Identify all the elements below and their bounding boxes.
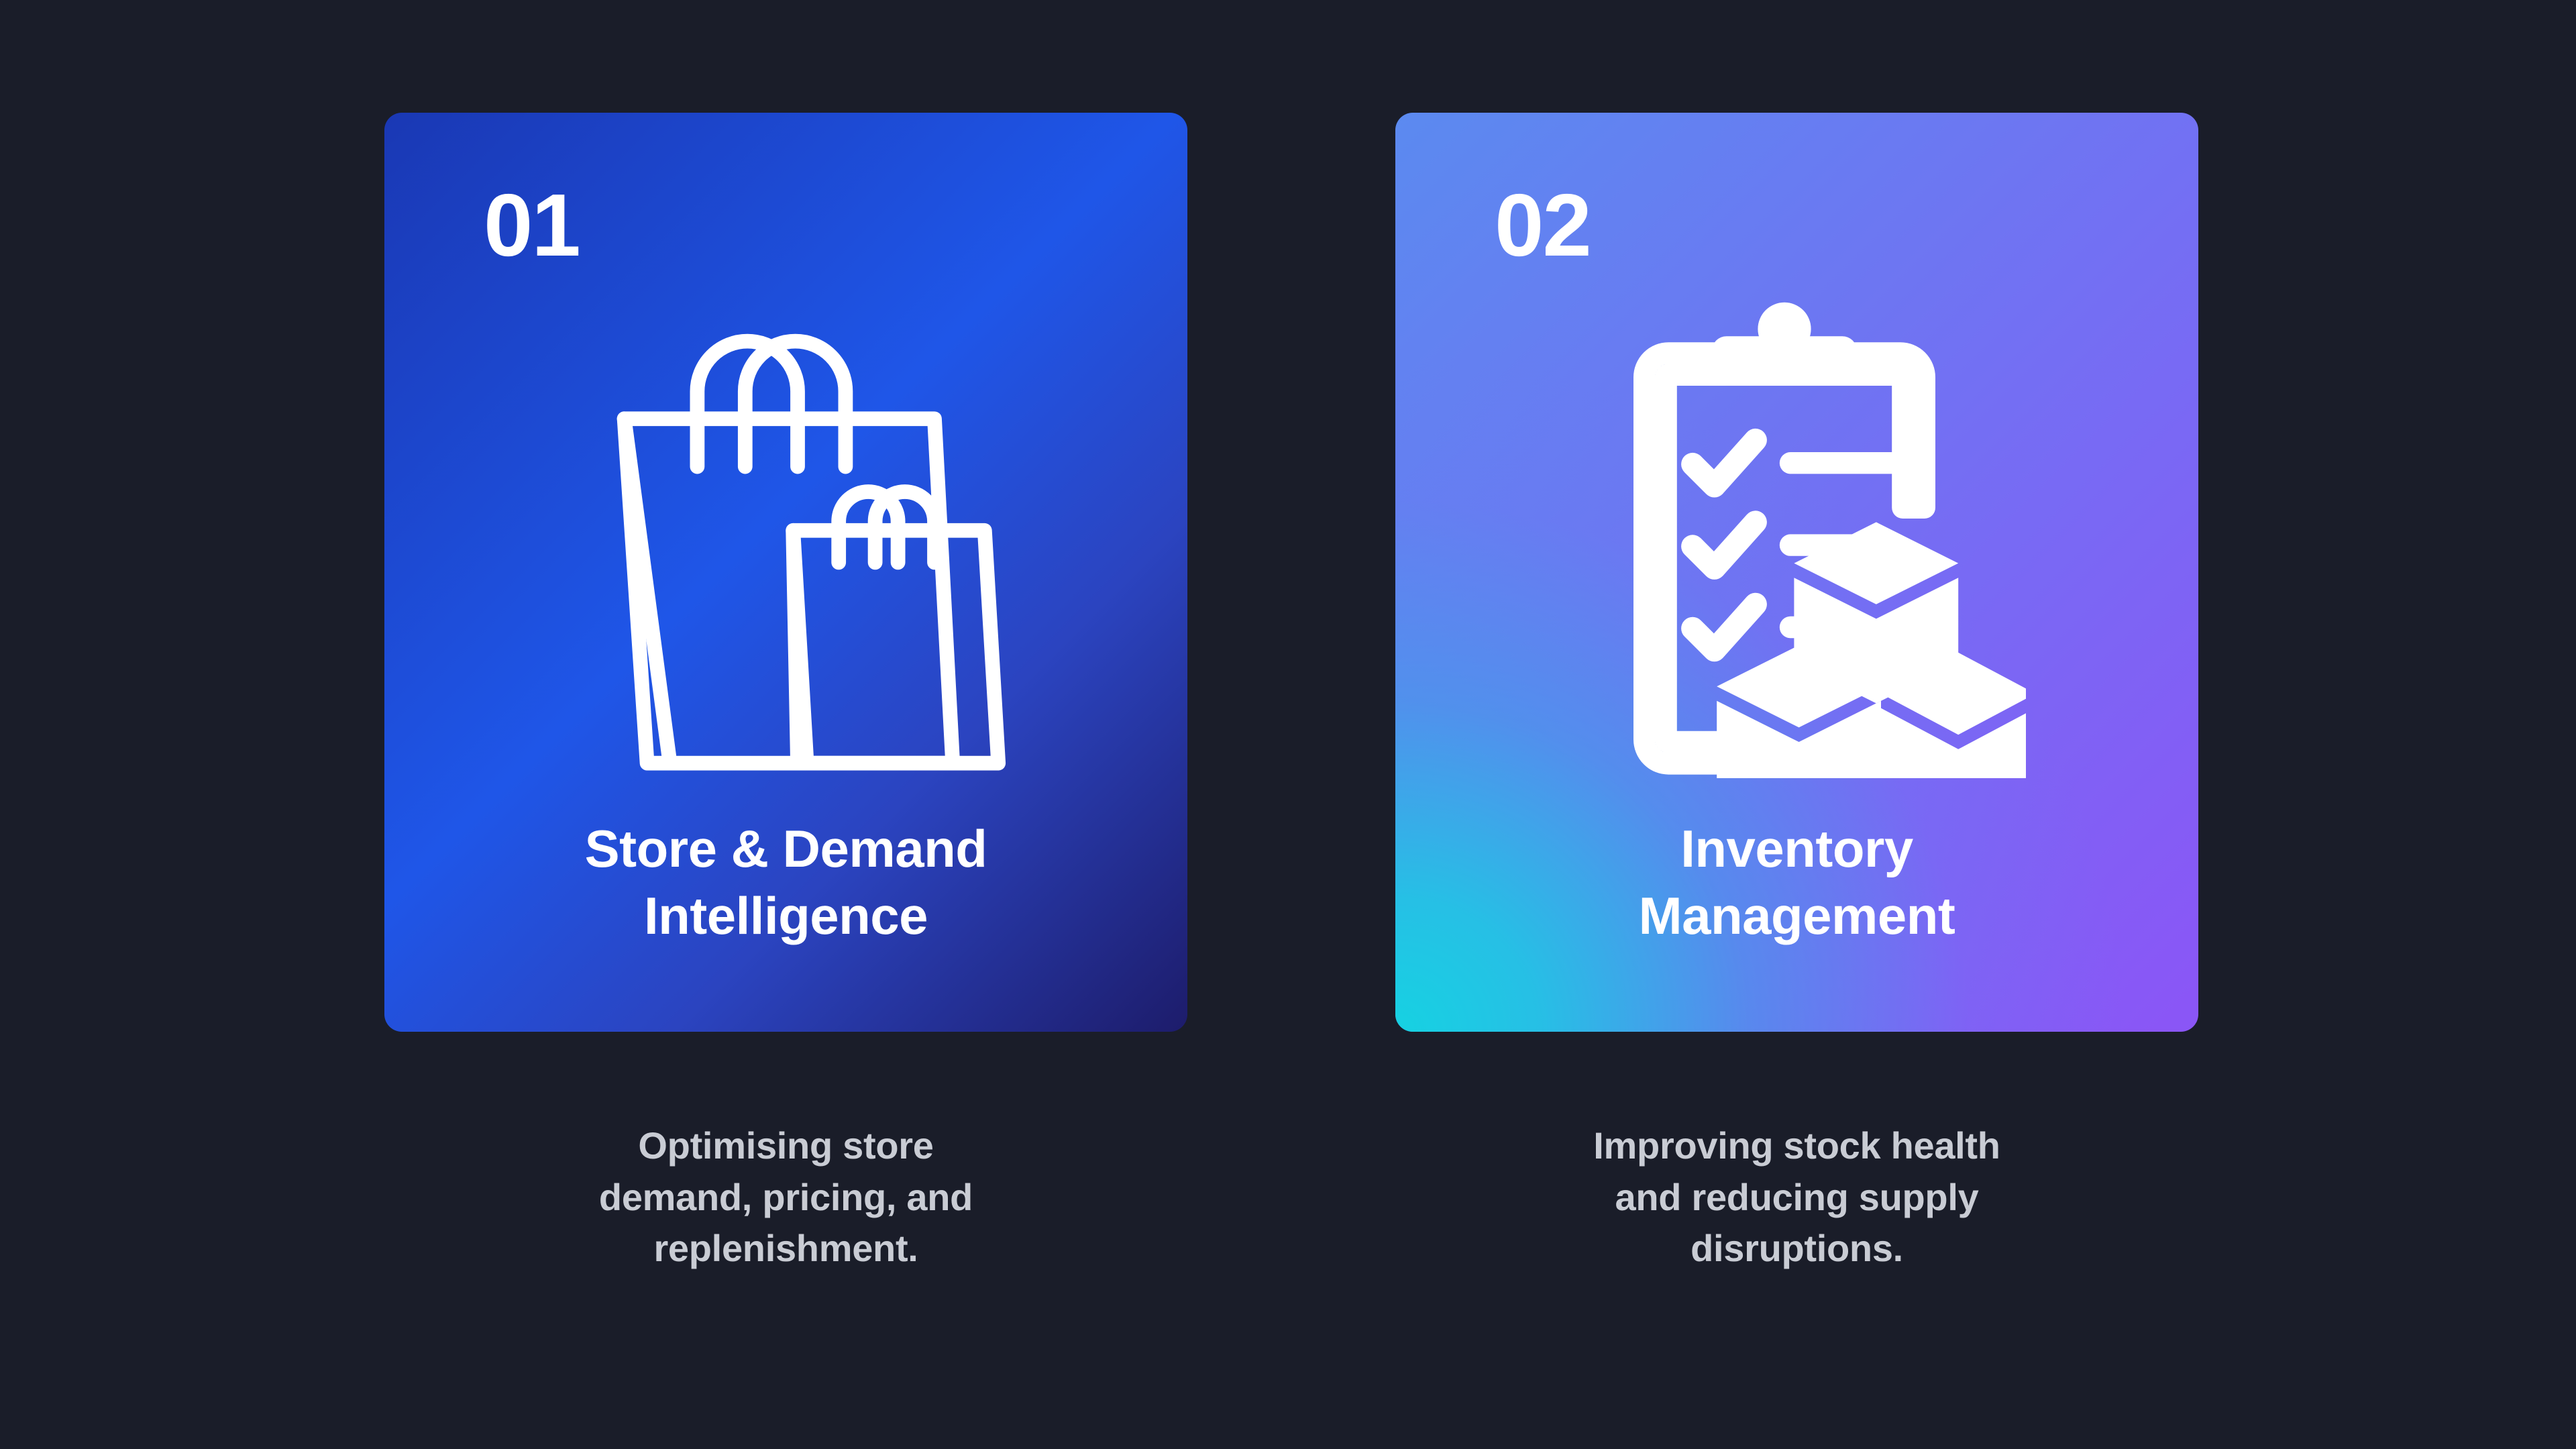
feature-card-2[interactable]: 02 — [1395, 113, 2198, 1032]
feature-card-block-2: 02 — [1395, 113, 2198, 1275]
card-title-1: Store & Demand Intelligence — [384, 816, 1187, 950]
card-description-line: disruptions. — [1465, 1223, 2129, 1275]
feature-card-1[interactable]: 01 — [384, 113, 1187, 1032]
card-description-2: Improving stock health and reducing supp… — [1395, 1120, 2198, 1275]
page-root: 01 — [0, 0, 2576, 1449]
card-description-1: Optimising store demand, pricing, and re… — [384, 1120, 1187, 1275]
card-description-line: and reducing supply — [1465, 1172, 2129, 1224]
card-number-01: 01 — [484, 181, 580, 270]
card-title-line: Inventory — [1438, 816, 2155, 883]
card-description-line: Improving stock health — [1465, 1120, 2129, 1172]
shopping-bags-icon — [570, 321, 1026, 777]
card-description-line: replenishment. — [454, 1223, 1118, 1275]
clipboard-checklist-boxes-icon — [1543, 295, 2026, 778]
card-description-line: Optimising store — [454, 1120, 1118, 1172]
card-title-line: Store & Demand — [427, 816, 1144, 883]
card-title-2: Inventory Management — [1395, 816, 2198, 950]
card-title-line: Intelligence — [427, 883, 1144, 950]
card-title-line: Management — [1438, 883, 2155, 950]
card-number-02: 02 — [1495, 181, 1591, 270]
card-description-line: demand, pricing, and — [454, 1172, 1118, 1224]
feature-card-block-1: 01 — [384, 113, 1187, 1275]
feature-cards-row: 01 — [0, 0, 2576, 1449]
